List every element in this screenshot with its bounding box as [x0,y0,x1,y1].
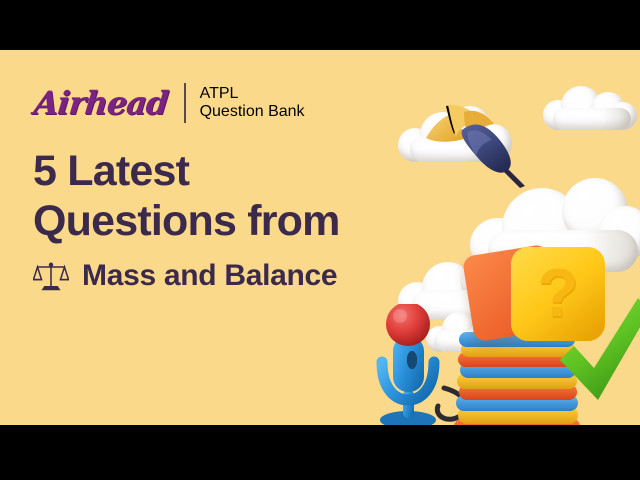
brand-divider [184,83,186,123]
cloud-upper-right-icon [543,84,639,130]
brand-subtitle-line1: ATPL [200,85,305,103]
page-title: 5 Latest Questions from [33,147,340,247]
brand-subtitle-line2: Question Bank [200,103,305,121]
subject-line: Mass and Balance [33,258,337,294]
subject-label: Mass and Balance [82,259,337,293]
thumbnail-stage: ? ? Airhead ATPL Question Bank [0,0,640,480]
balance-scales-icon [33,258,69,294]
headline-line-1: 5 Latest [33,147,189,195]
brand-subtitle: ATPL Question Bank [200,85,305,121]
headline-line-2: Questions from [33,197,340,247]
letterbox-bottom [0,425,640,480]
airhead-logo: Airhead [32,87,169,119]
dart-rocket-icon [424,102,540,188]
green-checkmark-icon [554,288,640,414]
letterbox-top [0,0,640,50]
brand-lockup: Airhead ATPL Question Bank [34,83,305,123]
artboard: ? ? Airhead ATPL Question Bank [0,50,640,425]
